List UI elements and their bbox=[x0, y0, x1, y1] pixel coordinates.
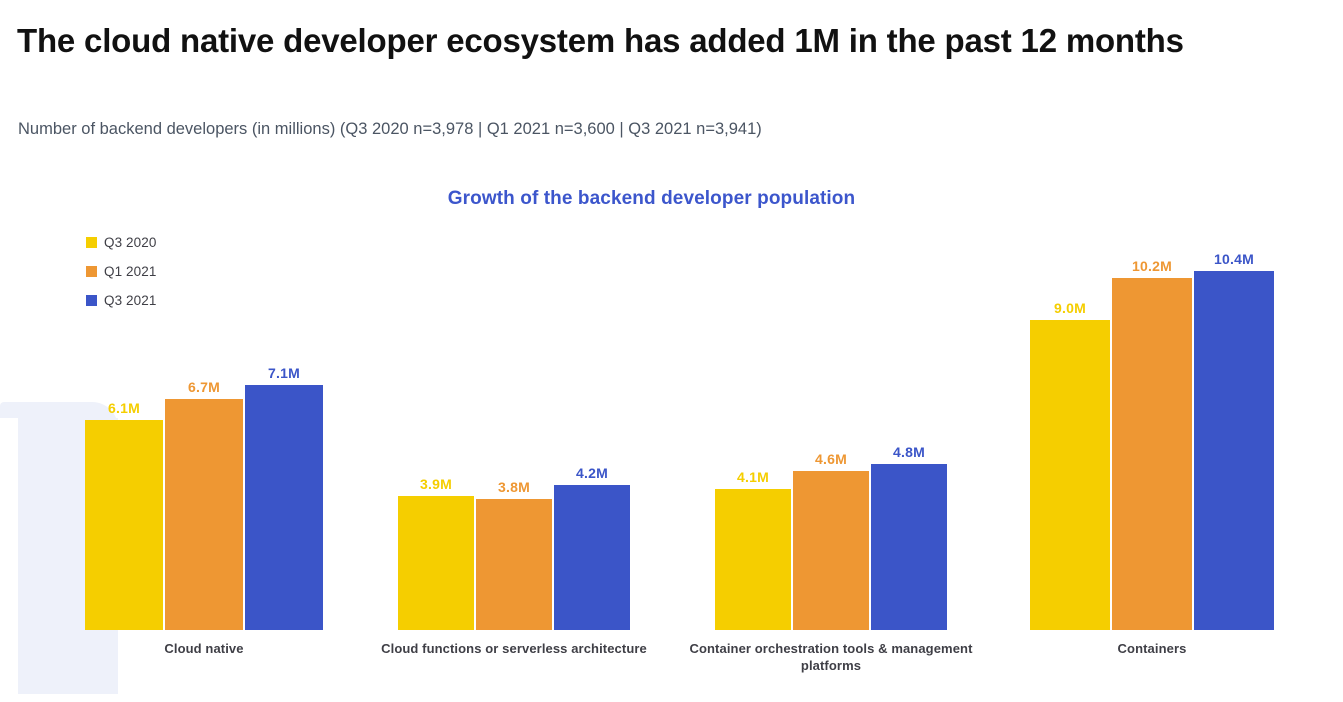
category-label: Containers bbox=[1002, 640, 1302, 657]
bar-q1-2021-containers[interactable]: 10.2M bbox=[1112, 230, 1192, 630]
bar-rect: 4.2M bbox=[554, 485, 630, 630]
bar-group-cloud-native: 6.1M6.7M7.1MCloud native bbox=[85, 230, 323, 630]
bar-q3-2021-cloud-functions-or-s[interactable]: 4.2M bbox=[554, 230, 630, 630]
bar-rect: 6.7M bbox=[165, 399, 243, 630]
bar-value-label: 6.1M bbox=[108, 400, 140, 416]
bar-group-container-orchestration-tool: 4.1M4.6M4.8MContainer orchestration tool… bbox=[715, 230, 947, 630]
bar-value-label: 3.9M bbox=[420, 476, 452, 492]
bar-q3-2021-containers[interactable]: 10.4M bbox=[1194, 230, 1274, 630]
bar-q3-2020-cloud-functions-or-s[interactable]: 3.9M bbox=[398, 230, 474, 630]
bar-rect: 6.1M bbox=[85, 420, 163, 630]
bar-q1-2021-container-orchestrat[interactable]: 4.6M bbox=[793, 230, 869, 630]
bar-value-label: 10.2M bbox=[1132, 258, 1172, 274]
bar-value-label: 4.1M bbox=[737, 469, 769, 485]
page-title: The cloud native developer ecosystem has… bbox=[17, 22, 1327, 60]
bar-rect: 10.2M bbox=[1112, 278, 1192, 630]
bar-q3-2020-cloud-native[interactable]: 6.1M bbox=[85, 230, 163, 630]
bar-rect: 3.9M bbox=[398, 496, 474, 630]
slide-canvas: The cloud native developer ecosystem has… bbox=[0, 0, 1343, 702]
bar-q3-2021-container-orchestrat[interactable]: 4.8M bbox=[871, 230, 947, 630]
bar-rect: 4.1M bbox=[715, 489, 791, 630]
bar-q1-2021-cloud-functions-or-s[interactable]: 3.8M bbox=[476, 230, 552, 630]
bar-chart: Growth of the backend developer populati… bbox=[0, 160, 1343, 702]
bar-value-label: 4.8M bbox=[893, 444, 925, 460]
bar-value-label: 3.8M bbox=[498, 479, 530, 495]
bar-q3-2020-container-orchestrat[interactable]: 4.1M bbox=[715, 230, 791, 630]
bar-group-cloud-functions-or-serverles: 3.9M3.8M4.2MCloud functions or serverles… bbox=[398, 230, 630, 630]
bar-rect: 7.1M bbox=[245, 385, 323, 630]
bar-rect: 4.8M bbox=[871, 464, 947, 630]
bar-value-label: 9.0M bbox=[1054, 300, 1086, 316]
bar-value-label: 4.2M bbox=[576, 465, 608, 481]
bar-value-label: 6.7M bbox=[188, 379, 220, 395]
category-label: Cloud native bbox=[54, 640, 354, 657]
bar-rect: 9.0M bbox=[1030, 320, 1110, 630]
page-subtitle: Number of backend developers (in million… bbox=[18, 119, 1318, 140]
bar-q3-2020-containers[interactable]: 9.0M bbox=[1030, 230, 1110, 630]
category-label: Cloud functions or serverless architectu… bbox=[364, 640, 664, 657]
bar-value-label: 10.4M bbox=[1214, 251, 1254, 267]
bar-rect: 3.8M bbox=[476, 499, 552, 630]
plot-area: 6.1M6.7M7.1MCloud native3.9M3.8M4.2MClou… bbox=[0, 160, 1343, 702]
bar-group-containers: 9.0M10.2M10.4MContainers bbox=[1030, 230, 1274, 630]
bar-rect: 10.4M bbox=[1194, 271, 1274, 630]
bar-rect: 4.6M bbox=[793, 471, 869, 630]
bar-q3-2021-cloud-native[interactable]: 7.1M bbox=[245, 230, 323, 630]
bar-q1-2021-cloud-native[interactable]: 6.7M bbox=[165, 230, 243, 630]
bar-value-label: 4.6M bbox=[815, 451, 847, 467]
category-label: Container orchestration tools & manageme… bbox=[681, 640, 981, 674]
bar-value-label: 7.1M bbox=[268, 365, 300, 381]
